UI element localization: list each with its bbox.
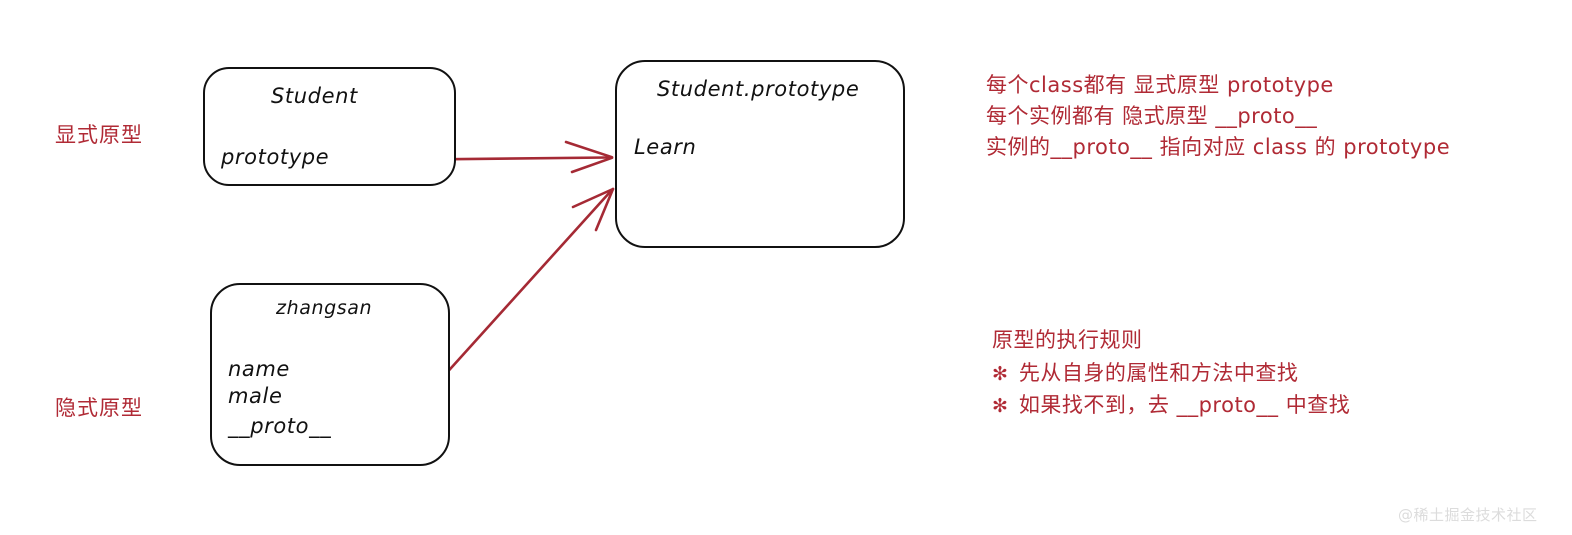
node-zhangsan-field-name: name [228, 357, 290, 381]
node-zhangsan-field-male: male [228, 384, 282, 408]
node-zhangsan-title: zhangsan [276, 297, 372, 319]
diagram-canvas: 显式原型 隐式原型 Student prototype Student.prot… [0, 0, 1572, 535]
note-lookup-item-1-row: ✻ 先从自身的属性和方法中查找 [992, 358, 1350, 390]
note-block-prototype-rules: 每个class都有 显式原型 prototype 每个实例都有 隐式原型 __p… [986, 70, 1450, 163]
node-student-prototype-field-learn: Learn [634, 135, 696, 159]
node-student-field-prototype: prototype [221, 145, 329, 169]
side-label-explicit-prototype: 显式原型 [55, 119, 143, 149]
node-student-prototype-title: Student.prototype [657, 77, 859, 101]
note-lookup-heading: 原型的执行规则 [992, 325, 1350, 356]
note-lookup-item-2-row: ✻ 如果找不到，去 __proto__ 中查找 [992, 390, 1350, 422]
note-lookup-item-2: 如果找不到，去 __proto__ 中查找 [1019, 390, 1350, 421]
note-block-lookup-rules: 原型的执行规则 ✻ 先从自身的属性和方法中查找 ✻ 如果找不到，去 __prot… [992, 325, 1350, 422]
node-student-title: Student [271, 84, 358, 108]
note-line-2: 每个实例都有 隐式原型 __proto__ [986, 101, 1450, 132]
note-line-1: 每个class都有 显式原型 prototype [986, 70, 1450, 101]
asterisk-bullet-icon: ✻ [992, 391, 1008, 422]
watermark: @稀土掘金技术社区 [1398, 504, 1538, 525]
note-line-3: 实例的__proto__ 指向对应 class 的 prototype [986, 132, 1450, 163]
node-zhangsan-field-proto: __proto__ [228, 414, 331, 438]
note-lookup-item-1: 先从自身的属性和方法中查找 [1019, 358, 1299, 389]
side-label-implicit-prototype: 隐式原型 [55, 392, 143, 422]
asterisk-bullet-icon: ✻ [992, 359, 1008, 390]
